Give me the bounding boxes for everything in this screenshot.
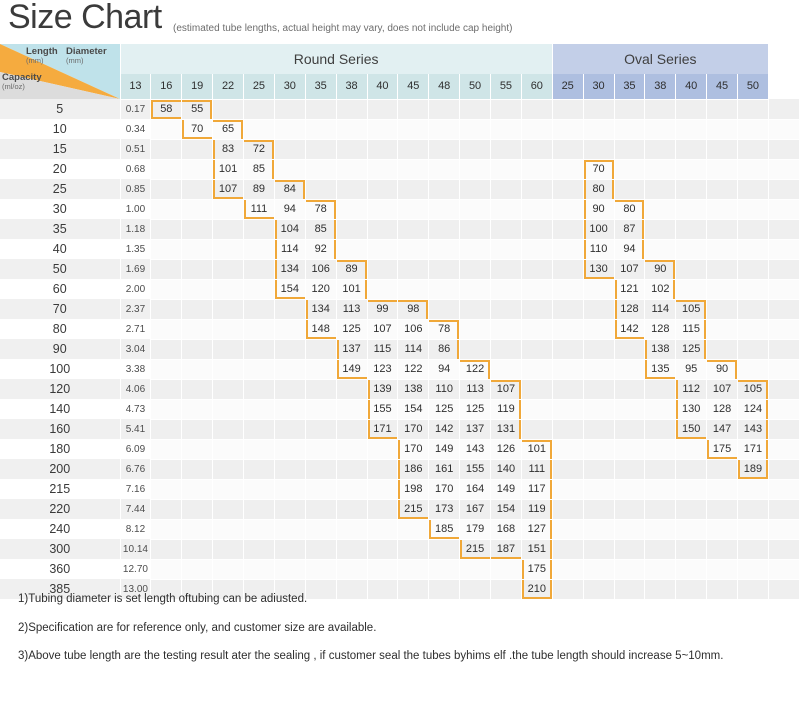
column-header-oval-35: 35 — [614, 74, 645, 99]
length-value-cell: 125 — [676, 339, 707, 359]
empty-cell — [645, 159, 676, 179]
length-value-cell: 215 — [460, 539, 491, 559]
column-header-round-16: 16 — [151, 74, 182, 99]
length-value-cell: 83 — [213, 139, 244, 159]
length-value-cell: 99 — [367, 299, 398, 319]
length-value-cell: 102 — [645, 279, 676, 299]
empty-cell — [768, 499, 799, 519]
length-value-cell: 85 — [244, 159, 275, 179]
empty-cell — [213, 479, 244, 499]
empty-cell — [398, 559, 429, 579]
empty-cell — [521, 219, 552, 239]
empty-cell — [738, 519, 769, 539]
column-header-round-50: 50 — [460, 74, 491, 99]
empty-cell — [614, 459, 645, 479]
length-value-cell: 98 — [398, 299, 429, 319]
length-value-cell: 128 — [707, 399, 738, 419]
empty-cell — [182, 379, 213, 399]
empty-cell — [552, 419, 583, 439]
length-value-cell: 120 — [305, 279, 336, 299]
empty-cell — [151, 279, 182, 299]
length-value-cell: 171 — [367, 419, 398, 439]
column-header-oval-50: 50 — [738, 74, 769, 99]
diameter-cell: 1.35 — [120, 239, 151, 259]
corner-legend-cell: Diameter (mm) Length (mm) Capacity (ml/o… — [0, 44, 120, 99]
empty-cell — [182, 559, 213, 579]
empty-cell — [552, 439, 583, 459]
empty-cell — [521, 159, 552, 179]
empty-cell — [182, 459, 213, 479]
empty-cell — [274, 319, 305, 339]
empty-cell — [645, 419, 676, 439]
empty-cell — [305, 419, 336, 439]
empty-cell — [614, 179, 645, 199]
empty-cell — [336, 379, 367, 399]
table-row: 2408.12185179168127 — [0, 519, 800, 539]
column-header-round-30: 30 — [274, 74, 305, 99]
empty-cell — [768, 439, 799, 459]
empty-cell — [768, 259, 799, 279]
empty-cell — [367, 539, 398, 559]
empty-cell — [244, 439, 275, 459]
capacity-cell: 360 — [0, 559, 120, 579]
empty-cell — [274, 539, 305, 559]
diameter-cell: 0.68 — [120, 159, 151, 179]
empty-cell — [676, 459, 707, 479]
length-value-cell: 123 — [367, 359, 398, 379]
length-value-cell: 127 — [521, 519, 552, 539]
empty-cell — [460, 319, 491, 339]
table-head: Diameter (mm) Length (mm) Capacity (ml/o… — [0, 44, 800, 99]
empty-cell — [182, 519, 213, 539]
empty-cell — [429, 119, 460, 139]
empty-cell — [738, 179, 769, 199]
length-value-cell: 175 — [707, 439, 738, 459]
empty-cell — [367, 559, 398, 579]
empty-cell — [336, 479, 367, 499]
length-value-cell: 111 — [521, 459, 552, 479]
length-value-cell: 155 — [460, 459, 491, 479]
empty-cell — [768, 139, 799, 159]
length-value-cell: 70 — [583, 159, 614, 179]
empty-cell — [707, 339, 738, 359]
empty-cell — [676, 519, 707, 539]
capacity-cell: 70 — [0, 299, 120, 319]
empty-cell — [429, 139, 460, 159]
empty-cell — [460, 139, 491, 159]
empty-cell — [676, 239, 707, 259]
empty-cell — [182, 339, 213, 359]
empty-cell — [521, 419, 552, 439]
length-value-cell: 106 — [398, 319, 429, 339]
empty-cell — [738, 319, 769, 339]
diameter-cell: 0.17 — [120, 99, 151, 119]
table-row: 36012.70175 — [0, 559, 800, 579]
empty-cell — [460, 339, 491, 359]
capacity-cell: 220 — [0, 499, 120, 519]
empty-cell — [151, 359, 182, 379]
diameter-cell: 0.34 — [120, 119, 151, 139]
empty-cell — [274, 439, 305, 459]
length-value-cell: 111 — [244, 199, 275, 219]
empty-cell — [676, 99, 707, 119]
empty-cell — [707, 99, 738, 119]
empty-cell — [707, 199, 738, 219]
length-value-cell: 161 — [429, 459, 460, 479]
length-value-cell: 89 — [244, 179, 275, 199]
length-value-cell: 126 — [491, 439, 522, 459]
empty-cell — [244, 319, 275, 339]
empty-cell — [460, 279, 491, 299]
length-value-cell: 117 — [521, 479, 552, 499]
page-subtitle: (estimated tube lengths, actual height m… — [173, 23, 512, 34]
empty-cell — [305, 559, 336, 579]
empty-cell — [707, 279, 738, 299]
empty-cell — [244, 559, 275, 579]
corner-diameter-label: Diameter (mm) — [66, 47, 107, 65]
empty-cell — [768, 559, 799, 579]
length-value-cell: 139 — [367, 379, 398, 399]
empty-cell — [645, 519, 676, 539]
empty-cell — [583, 99, 614, 119]
empty-cell — [182, 319, 213, 339]
empty-cell — [244, 279, 275, 299]
empty-cell — [645, 379, 676, 399]
length-value-cell: 125 — [336, 319, 367, 339]
empty-cell — [274, 119, 305, 139]
empty-cell — [583, 479, 614, 499]
empty-cell — [367, 239, 398, 259]
empty-cell — [676, 119, 707, 139]
empty-cell — [398, 139, 429, 159]
capacity-cell: 10 — [0, 119, 120, 139]
empty-cell — [552, 119, 583, 139]
empty-cell — [336, 99, 367, 119]
length-value-cell: 170 — [429, 479, 460, 499]
table-row: 351.181048510087 — [0, 219, 800, 239]
empty-cell — [151, 479, 182, 499]
empty-cell — [336, 159, 367, 179]
empty-cell — [614, 119, 645, 139]
empty-cell — [151, 239, 182, 259]
capacity-cell: 120 — [0, 379, 120, 399]
empty-cell — [738, 279, 769, 299]
empty-cell — [614, 159, 645, 179]
diameter-cell: 7.44 — [120, 499, 151, 519]
empty-cell — [305, 139, 336, 159]
empty-cell — [645, 399, 676, 419]
empty-cell — [583, 519, 614, 539]
diameter-cell: 1.69 — [120, 259, 151, 279]
empty-cell — [676, 559, 707, 579]
length-value-cell: 131 — [491, 419, 522, 439]
empty-cell — [707, 559, 738, 579]
empty-cell — [460, 159, 491, 179]
empty-cell — [645, 139, 676, 159]
empty-cell — [738, 339, 769, 359]
length-value-cell: 143 — [738, 419, 769, 439]
capacity-cell: 90 — [0, 339, 120, 359]
table-row: 30010.14215187151 — [0, 539, 800, 559]
empty-cell — [491, 199, 522, 219]
length-value-cell: 80 — [614, 199, 645, 219]
length-value-cell: 171 — [738, 439, 769, 459]
length-value-cell: 114 — [398, 339, 429, 359]
length-value-cell: 198 — [398, 479, 429, 499]
empty-cell — [521, 179, 552, 199]
empty-cell — [182, 499, 213, 519]
empty-cell — [305, 459, 336, 479]
column-header-round-25: 25 — [244, 74, 275, 99]
length-value-cell: 130 — [583, 259, 614, 279]
empty-cell — [768, 299, 799, 319]
empty-cell — [676, 259, 707, 279]
empty-cell — [274, 99, 305, 119]
length-value-cell: 106 — [305, 259, 336, 279]
table-row: 903.0413711511486138125 — [0, 339, 800, 359]
length-value-cell: 154 — [491, 499, 522, 519]
empty-cell — [583, 419, 614, 439]
length-value-cell: 107 — [491, 379, 522, 399]
length-value-cell: 112 — [676, 379, 707, 399]
empty-cell — [305, 499, 336, 519]
empty-cell — [552, 219, 583, 239]
empty-cell — [614, 339, 645, 359]
empty-cell — [367, 159, 398, 179]
empty-cell — [151, 219, 182, 239]
empty-cell — [305, 479, 336, 499]
empty-cell — [738, 359, 769, 379]
length-value-cell: 121 — [614, 279, 645, 299]
capacity-cell: 20 — [0, 159, 120, 179]
empty-cell — [521, 99, 552, 119]
empty-cell — [614, 379, 645, 399]
empty-cell — [367, 459, 398, 479]
empty-cell — [151, 299, 182, 319]
empty-cell — [182, 239, 213, 259]
length-value-cell: 154 — [398, 399, 429, 419]
empty-cell — [274, 359, 305, 379]
length-value-cell: 135 — [645, 359, 676, 379]
empty-cell — [583, 299, 614, 319]
capacity-cell: 30 — [0, 199, 120, 219]
empty-cell — [182, 439, 213, 459]
diameter-cell: 0.51 — [120, 139, 151, 159]
empty-cell — [491, 139, 522, 159]
length-value-cell: 134 — [274, 259, 305, 279]
empty-cell — [367, 139, 398, 159]
length-value-cell: 137 — [460, 419, 491, 439]
empty-cell — [614, 359, 645, 379]
empty-cell — [274, 379, 305, 399]
empty-cell — [768, 239, 799, 259]
diameter-cell: 3.38 — [120, 359, 151, 379]
length-value-cell: 113 — [336, 299, 367, 319]
empty-cell — [213, 399, 244, 419]
column-header-oval-38: 38 — [645, 74, 676, 99]
length-value-cell: 167 — [460, 499, 491, 519]
empty-cell — [645, 559, 676, 579]
length-value-cell: 124 — [738, 399, 769, 419]
capacity-cell: 215 — [0, 479, 120, 499]
empty-cell — [429, 299, 460, 319]
empty-cell — [583, 319, 614, 339]
empty-cell — [151, 539, 182, 559]
diameter-cell: 2.00 — [120, 279, 151, 299]
length-value-cell: 95 — [676, 359, 707, 379]
empty-cell — [274, 399, 305, 419]
empty-cell — [583, 359, 614, 379]
empty-cell — [274, 419, 305, 439]
length-value-cell: 100 — [583, 219, 614, 239]
empty-cell — [213, 559, 244, 579]
note-2: 2)Specification are for reference only, … — [18, 621, 780, 637]
empty-cell — [336, 439, 367, 459]
capacity-cell: 15 — [0, 139, 120, 159]
empty-cell — [398, 279, 429, 299]
empty-cell — [244, 339, 275, 359]
empty-cell — [676, 199, 707, 219]
empty-cell — [182, 299, 213, 319]
length-value-cell: 101 — [521, 439, 552, 459]
page-title: Size Chart — [8, 0, 162, 37]
empty-cell — [367, 219, 398, 239]
column-header-oval-45: 45 — [707, 74, 738, 99]
empty-cell — [305, 519, 336, 539]
empty-cell — [182, 159, 213, 179]
capacity-cell: 300 — [0, 539, 120, 559]
empty-cell — [707, 239, 738, 259]
capacity-cell: 140 — [0, 399, 120, 419]
empty-cell — [676, 159, 707, 179]
length-value-cell: 107 — [614, 259, 645, 279]
empty-cell — [274, 159, 305, 179]
empty-cell — [552, 359, 583, 379]
empty-cell — [521, 279, 552, 299]
empty-cell — [738, 539, 769, 559]
empty-cell — [429, 279, 460, 299]
table-row: 301.0011194789080 — [0, 199, 800, 219]
length-value-cell: 151 — [521, 539, 552, 559]
empty-cell — [244, 119, 275, 139]
length-value-cell: 149 — [491, 479, 522, 499]
empty-cell — [151, 319, 182, 339]
empty-cell — [429, 179, 460, 199]
empty-cell — [213, 99, 244, 119]
diameter-cell: 4.06 — [120, 379, 151, 399]
size-chart-table: Diameter (mm) Length (mm) Capacity (ml/o… — [0, 44, 800, 600]
empty-cell — [274, 479, 305, 499]
length-value-cell: 179 — [460, 519, 491, 539]
empty-cell — [305, 99, 336, 119]
empty-cell — [274, 459, 305, 479]
length-value-cell: 114 — [274, 239, 305, 259]
length-value-cell: 149 — [336, 359, 367, 379]
table-row: 250.85107898480 — [0, 179, 800, 199]
empty-cell — [768, 399, 799, 419]
length-value-cell: 128 — [645, 319, 676, 339]
length-value-cell: 150 — [676, 419, 707, 439]
empty-cell — [367, 199, 398, 219]
empty-cell — [768, 539, 799, 559]
empty-cell — [768, 359, 799, 379]
length-value-cell: 92 — [305, 239, 336, 259]
empty-cell — [305, 439, 336, 459]
capacity-cell: 240 — [0, 519, 120, 539]
empty-cell — [305, 119, 336, 139]
column-header-oval-40: 40 — [676, 74, 707, 99]
empty-cell — [367, 179, 398, 199]
series-header-oval: Oval Series — [552, 44, 768, 74]
size-chart-table-wrap: Diameter (mm) Length (mm) Capacity (ml/o… — [0, 44, 800, 600]
empty-cell — [491, 119, 522, 139]
empty-cell — [429, 219, 460, 239]
empty-cell — [768, 159, 799, 179]
empty-cell — [552, 99, 583, 119]
table-row: 1003.38149123122941221359590 — [0, 359, 800, 379]
table-row: 2207.44215173167154119 — [0, 499, 800, 519]
empty-cell — [398, 219, 429, 239]
length-value-cell: 189 — [738, 459, 769, 479]
table-row: 100.347065 — [0, 119, 800, 139]
column-header-round-48: 48 — [429, 74, 460, 99]
empty-cell — [151, 499, 182, 519]
empty-cell — [768, 459, 799, 479]
empty-cell — [583, 119, 614, 139]
empty-cell — [738, 99, 769, 119]
length-value-cell: 107 — [367, 319, 398, 339]
empty-cell — [583, 559, 614, 579]
empty-cell — [398, 159, 429, 179]
length-value-cell: 122 — [460, 359, 491, 379]
empty-cell — [676, 219, 707, 239]
length-value-cell: 58 — [151, 99, 182, 119]
empty-cell — [491, 179, 522, 199]
empty-cell — [676, 479, 707, 499]
empty-cell — [645, 499, 676, 519]
length-value-cell: 138 — [645, 339, 676, 359]
column-header-round-40: 40 — [367, 74, 398, 99]
length-value-cell: 148 — [305, 319, 336, 339]
diameter-cell: 6.76 — [120, 459, 151, 479]
empty-cell — [213, 499, 244, 519]
empty-cell — [552, 199, 583, 219]
diameter-cell: 7.16 — [120, 479, 151, 499]
empty-cell — [182, 359, 213, 379]
empty-cell — [460, 299, 491, 319]
size-header-row: 1316192225303538404548505560253035384045… — [0, 74, 800, 99]
size-chart-page: Size Chart (estimated tube lengths, actu… — [0, 0, 800, 711]
empty-cell — [552, 139, 583, 159]
column-header-round-38: 38 — [336, 74, 367, 99]
empty-cell — [738, 159, 769, 179]
empty-cell — [738, 299, 769, 319]
empty-cell — [336, 139, 367, 159]
empty-cell — [614, 139, 645, 159]
empty-cell — [491, 239, 522, 259]
empty-cell — [274, 499, 305, 519]
empty-cell — [182, 259, 213, 279]
diameter-cell: 0.85 — [120, 179, 151, 199]
length-value-cell: 142 — [429, 419, 460, 439]
empty-cell — [151, 519, 182, 539]
empty-cell — [614, 439, 645, 459]
empty-cell — [768, 379, 799, 399]
length-value-cell: 173 — [429, 499, 460, 519]
empty-cell — [491, 99, 522, 119]
empty-cell — [151, 119, 182, 139]
empty-cell — [768, 339, 799, 359]
